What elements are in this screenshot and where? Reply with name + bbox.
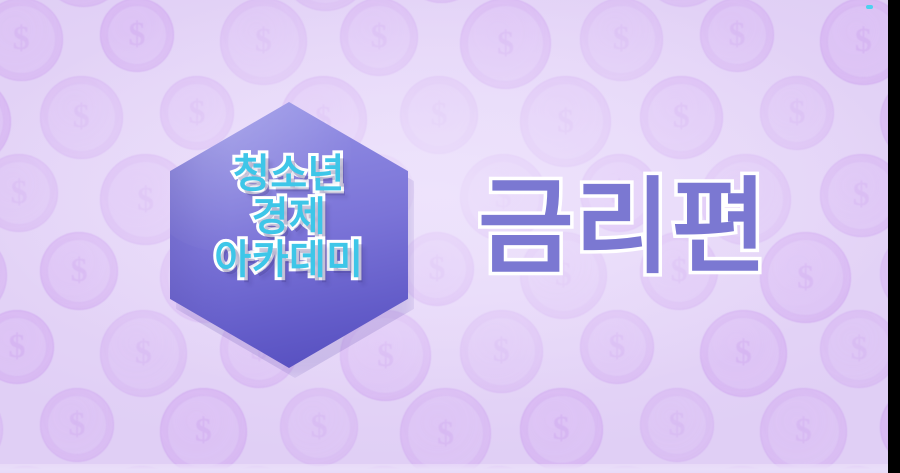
academy-badge: 청소년 경제 아카데미 <box>170 102 408 368</box>
coin-dollar-icon <box>880 76 888 163</box>
coin-dollar-icon <box>0 0 63 81</box>
coin-dollar-icon <box>700 466 783 473</box>
coin-dollar-icon <box>700 310 787 397</box>
coin-dollar-icon <box>40 76 123 159</box>
coin-dollar-icon <box>520 388 603 471</box>
coin-dollar-icon <box>640 388 714 462</box>
badge-line-2: 경제 <box>170 197 408 238</box>
coin-dollar-icon <box>100 0 174 72</box>
cyan-speck-artifact <box>866 5 873 9</box>
badge-text-block: 청소년 경제 아카데미 <box>170 154 408 280</box>
coin-dollar-icon <box>460 0 551 89</box>
coin-dollar-icon <box>760 388 847 473</box>
coin-dollar-icon <box>580 310 654 384</box>
coin-dollar-icon <box>820 0 888 85</box>
coin-dollar-icon <box>460 310 543 393</box>
coin-dollar-icon <box>0 232 7 319</box>
episode-title: 금리편 <box>478 176 768 280</box>
coin-dollar-icon <box>520 76 611 167</box>
coin-dollar-icon <box>280 388 358 466</box>
coin-dollar-icon <box>760 232 851 323</box>
coin-dollar-icon <box>340 0 418 76</box>
coin-dollar-icon <box>820 310 888 388</box>
right-letterbox-bar <box>888 0 900 473</box>
title-card-stage: 청소년 경제 아카데미 금리편 <box>0 0 900 473</box>
coin-dollar-icon <box>700 0 774 72</box>
coin-dollar-icon <box>400 0 483 3</box>
coin-dollar-icon <box>820 466 888 473</box>
coin-dollar-icon <box>580 466 671 473</box>
coin-dollar-icon <box>40 232 118 310</box>
coin-dollar-icon <box>820 154 888 237</box>
coin-dollar-icon <box>580 0 663 81</box>
coin-dollar-icon <box>0 388 3 471</box>
coin-dollar-icon <box>880 388 888 466</box>
coin-dollar-icon <box>220 466 294 473</box>
coin-dollar-icon <box>0 76 11 167</box>
coin-dollar-icon <box>0 154 58 232</box>
coin-dollar-icon <box>400 76 478 154</box>
coin-dollar-icon <box>400 388 491 473</box>
background-plate: 청소년 경제 아카데미 금리편 <box>0 0 888 473</box>
coin-dollar-icon <box>0 310 54 384</box>
coin-dollar-icon <box>760 76 834 150</box>
coin-dollar-icon <box>160 388 247 473</box>
coin-dollar-icon <box>0 466 71 473</box>
coin-dollar-icon <box>640 76 723 159</box>
badge-line-3: 아카데미 <box>170 240 408 281</box>
coin-dollar-icon <box>100 466 183 473</box>
coin-dollar-icon <box>220 0 307 85</box>
coin-dollar-icon <box>40 388 114 462</box>
coin-dollar-icon <box>880 232 888 315</box>
badge-line-1: 청소년 <box>170 154 408 195</box>
